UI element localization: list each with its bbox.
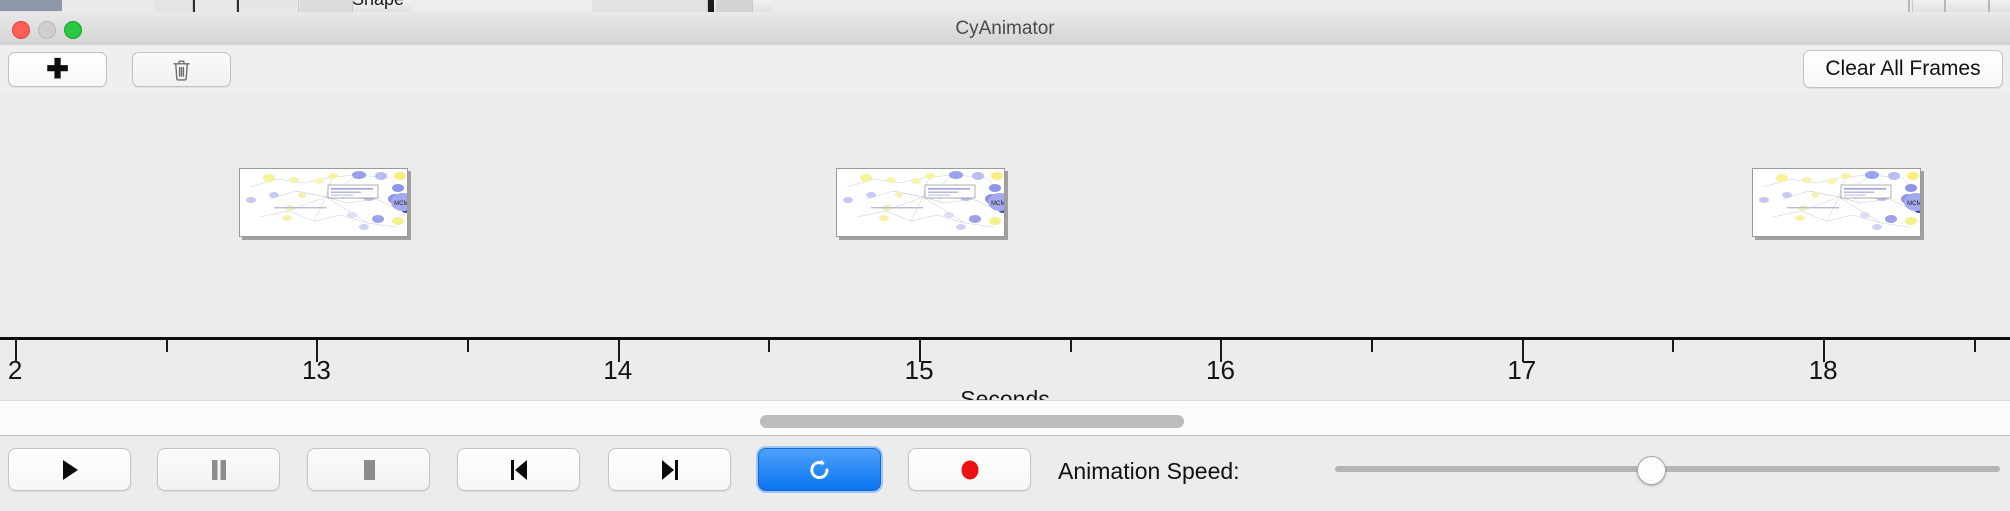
add-frame-button[interactable]: ✚ <box>8 52 107 87</box>
axis-minor-tick <box>1070 340 1072 352</box>
bg-chunk <box>412 0 593 12</box>
svg-text:MCM1: MCM1 <box>395 201 408 207</box>
trash-icon <box>172 59 191 81</box>
frame-thumbnail[interactable]: MCM1 <box>1752 168 1921 237</box>
axis-tick-label: 14 <box>603 355 632 386</box>
animation-speed-slider-track[interactable] <box>1335 466 2000 472</box>
frame-thumbnail[interactable]: MCM1 <box>836 168 1005 237</box>
pause-button[interactable] <box>157 448 280 491</box>
toolbar: ✚ Clear All Frames <box>0 45 2010 93</box>
animation-speed-slider-thumb[interactable] <box>1637 456 1666 485</box>
bg-divider <box>1908 0 1910 12</box>
axis-tick-label: 2 <box>8 355 22 386</box>
axis-tick-label: 13 <box>302 355 331 386</box>
axis-minor-tick <box>768 340 770 352</box>
frame-thumbnail[interactable]: MCM1 <box>239 168 408 237</box>
bg-chunk <box>772 0 1913 12</box>
scrollbar-thumb[interactable] <box>760 415 1184 428</box>
network-preview: MCM1 <box>837 169 1004 236</box>
playback-control-bar: Animation Speed: <box>0 435 2010 511</box>
skip-forward-icon <box>659 459 681 481</box>
axis-minor-tick <box>1371 340 1373 352</box>
bg-marker <box>708 0 714 12</box>
axis-tick-label: 17 <box>1507 355 1536 386</box>
bg-divider <box>237 0 239 12</box>
bg-chunk <box>154 0 193 12</box>
skip-back-icon <box>508 459 530 481</box>
bg-chunk <box>62 0 155 12</box>
timeline-axis <box>0 337 2010 340</box>
svg-text:MCM1: MCM1 <box>991 201 1004 207</box>
pause-icon <box>210 459 228 481</box>
bg-divider <box>1944 0 1946 12</box>
axis-minor-tick <box>1974 340 1976 352</box>
axis-title: Seconds <box>0 386 2010 400</box>
background-titlebar-chunk <box>0 0 62 11</box>
timeline-scrollbar[interactable] <box>0 400 2010 436</box>
play-button[interactable] <box>8 448 131 491</box>
bg-chunk <box>592 0 708 12</box>
clear-all-frames-button[interactable]: Clear All Frames <box>1803 50 2003 88</box>
title-bar: CyAnimator <box>0 12 2010 46</box>
timeline-panel[interactable]: MCM1 <box>0 92 2010 400</box>
stop-button[interactable] <box>307 448 430 491</box>
play-icon <box>60 459 80 481</box>
bg-divider <box>193 0 195 12</box>
plus-icon: ✚ <box>46 56 69 83</box>
axis-minor-tick <box>467 340 469 352</box>
bg-chunk <box>716 0 753 12</box>
loop-button[interactable] <box>758 448 881 491</box>
background-window-label: Shape <box>352 0 404 10</box>
animation-speed-label: Animation Speed: <box>1058 458 1240 485</box>
cyanimator-window: Shape CyAnimator ✚ Clear All Frames <box>0 0 2010 510</box>
record-button[interactable] <box>908 448 1031 491</box>
loop-icon <box>808 458 832 482</box>
axis-minor-tick <box>1672 340 1674 352</box>
bg-chunk <box>300 0 353 12</box>
axis-minor-tick <box>166 340 168 352</box>
stop-icon <box>360 459 378 481</box>
axis-tick-label: 18 <box>1809 355 1838 386</box>
record-icon <box>958 458 982 482</box>
network-preview: MCM1 <box>1753 169 1920 236</box>
axis-tick-label: 15 <box>905 355 934 386</box>
network-preview: MCM1 <box>240 169 407 236</box>
bg-chunk <box>240 0 299 12</box>
skip-forward-button[interactable] <box>608 448 731 491</box>
window-title: CyAnimator <box>0 12 2010 45</box>
bg-chunk <box>196 0 237 12</box>
delete-frame-button[interactable] <box>132 52 231 87</box>
axis-tick-label: 16 <box>1206 355 1235 386</box>
skip-back-button[interactable] <box>457 448 580 491</box>
bg-divider <box>1988 0 1990 12</box>
svg-text:MCM1: MCM1 <box>1907 201 1920 207</box>
